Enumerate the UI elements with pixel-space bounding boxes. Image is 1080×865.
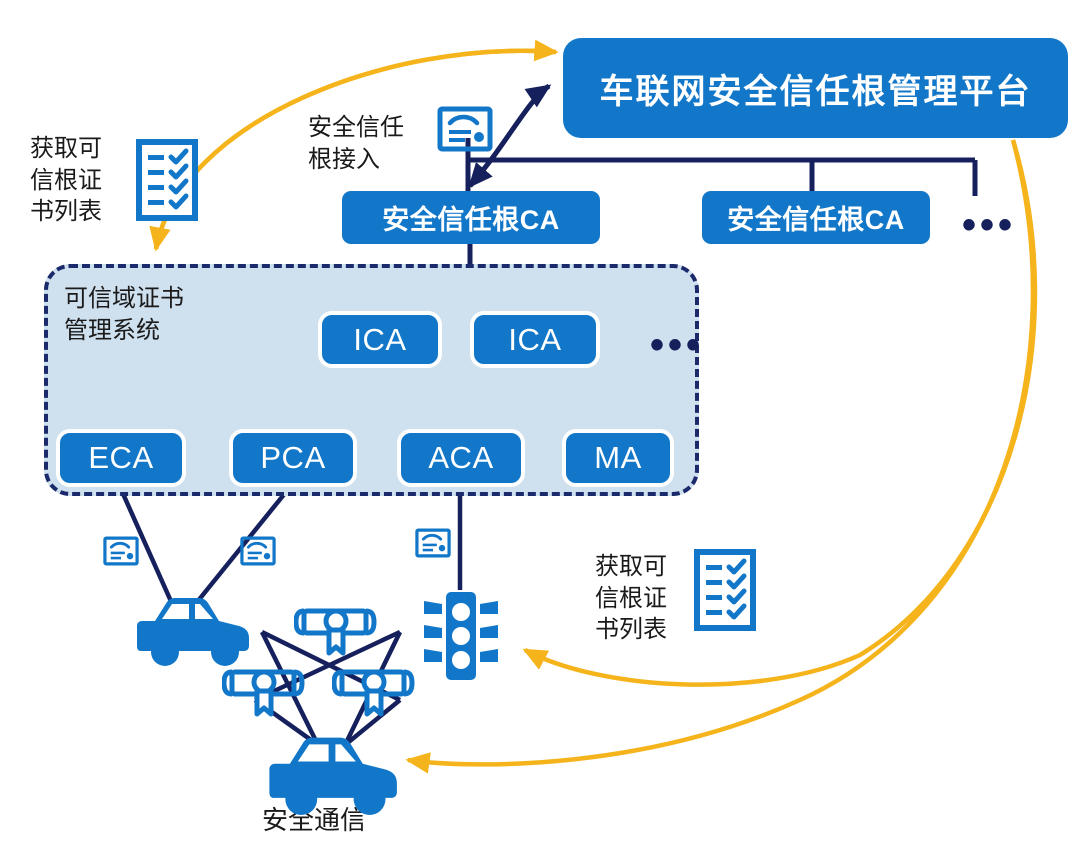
eca-box[interactable]: ECA xyxy=(56,429,186,487)
car-icon xyxy=(258,728,406,825)
ica-ellipsis: ••• xyxy=(650,325,704,365)
diagram-canvas: 可信域证书 管理系统 车联网安全信任根管理平台 安全信任根CA 安全信任根CA … xyxy=(0,0,1080,865)
root-access-label: 安全信任 根接入 xyxy=(308,112,428,175)
trusted-domain-label: 可信域证书 管理系统 xyxy=(64,283,184,348)
root-ca-box-1[interactable]: 安全信任根CA xyxy=(342,191,600,244)
certificate-card-icon xyxy=(437,106,493,157)
checklist-icon xyxy=(694,549,756,636)
fetch-trusted-root-list-label-right: 获取可 信根证 书列表 xyxy=(595,551,693,646)
certificate-scroll-icon xyxy=(294,601,378,668)
certificate-card-icon xyxy=(103,536,139,571)
root-ca-ellipsis: ••• xyxy=(962,205,1016,245)
certificate-card-icon xyxy=(415,528,451,563)
pca-box[interactable]: PCA xyxy=(229,429,357,487)
fetch-trusted-root-list-label-left: 获取可 信根证 书列表 xyxy=(30,133,130,228)
ica-box-2[interactable]: ICA xyxy=(470,311,600,368)
traffic-light-icon xyxy=(418,588,504,689)
aca-box[interactable]: ACA xyxy=(397,429,525,487)
checklist-icon xyxy=(136,139,198,226)
certificate-scroll-icon xyxy=(332,662,416,729)
ma-box[interactable]: MA xyxy=(562,429,674,487)
root-ca-box-2[interactable]: 安全信任根CA xyxy=(702,191,930,244)
platform-box[interactable]: 车联网安全信任根管理平台 xyxy=(563,38,1068,138)
certificate-card-icon xyxy=(240,536,276,571)
ica-box-1[interactable]: ICA xyxy=(318,311,442,368)
certificate-scroll-icon xyxy=(222,662,306,724)
